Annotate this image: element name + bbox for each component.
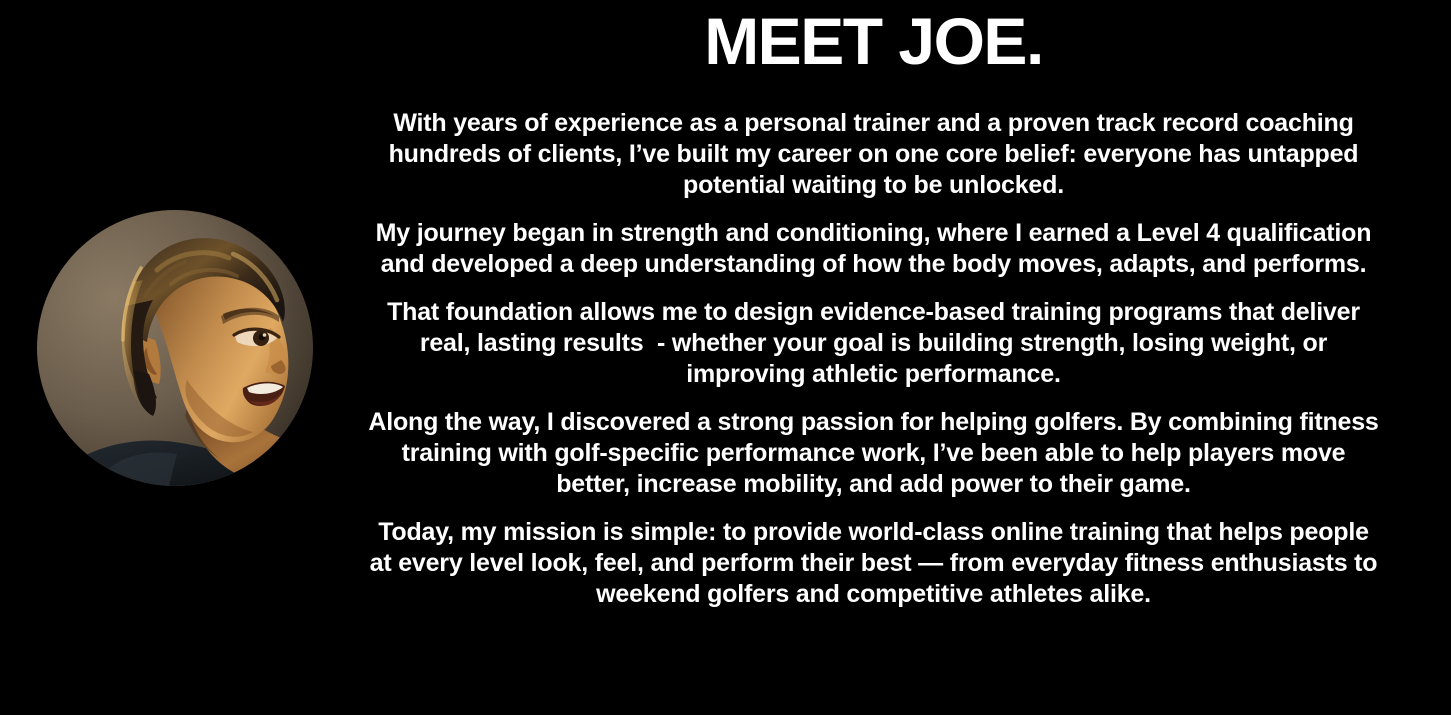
bio-paragraphs: With years of experience as a personal t… — [364, 108, 1383, 610]
portrait-illustration — [37, 210, 313, 486]
bio-paragraph: Today, my mission is simple: to provide … — [364, 517, 1383, 610]
portrait-eye-catchlight — [263, 333, 267, 337]
bio-paragraph: With years of experience as a personal t… — [364, 108, 1383, 201]
page-title: MEET JOE. — [364, 0, 1383, 74]
bio-paragraph: My journey began in strength and conditi… — [364, 218, 1383, 280]
about-section: MEET JOE. With years of experience as a … — [0, 0, 1451, 715]
bio-column: MEET JOE. With years of experience as a … — [364, 0, 1383, 715]
portrait-avatar — [37, 210, 313, 486]
bio-paragraph: That foundation allows me to design evid… — [364, 297, 1383, 390]
bio-paragraph: Along the way, I discovered a strong pas… — [364, 407, 1383, 500]
